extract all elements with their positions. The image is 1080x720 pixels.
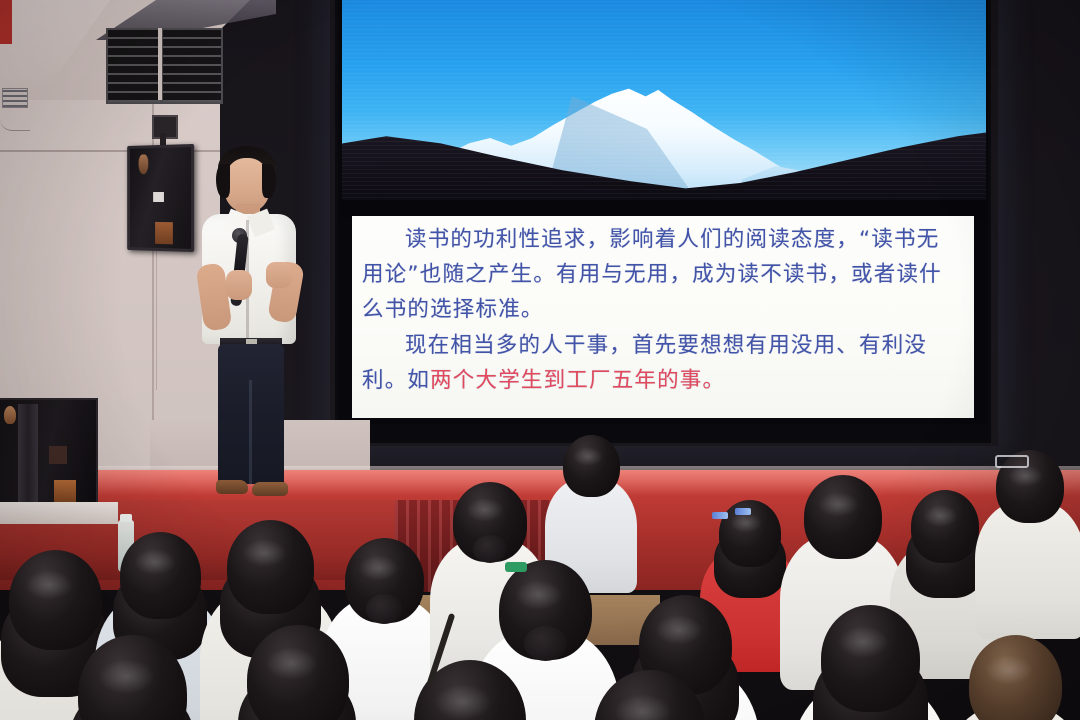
audience-member-hair-sheen xyxy=(466,498,504,522)
audience-member-hair-bun xyxy=(366,594,402,624)
ac-grille-icon xyxy=(106,28,162,104)
slide-photo xyxy=(342,0,986,202)
audience-member-hair-sheen xyxy=(515,580,563,610)
ac-grille-divider xyxy=(158,28,162,100)
pa-speaker xyxy=(127,144,194,252)
audience-member-hair-sheen xyxy=(134,549,176,575)
projection-screen: 读书的功利性追求，影响着人们的阅读态度，“读书无用论”也随之产生。有用与无用，成… xyxy=(338,0,988,440)
audience-member-hair-sheen xyxy=(98,659,155,694)
audience-member-hair-sheen xyxy=(242,539,287,567)
presenter-hand-gesture xyxy=(266,262,292,288)
audience-member-head xyxy=(120,532,201,619)
audience-member-head xyxy=(227,520,314,614)
audience-member-hair-sheen xyxy=(985,655,1033,685)
audience-member-hair-sheen xyxy=(358,555,399,581)
slide-highlight-text: 两个大学生到工厂五年的事。 xyxy=(430,368,725,393)
presenter-hair-right xyxy=(262,164,276,198)
audience-clip-icon xyxy=(712,512,728,519)
ac-grille-icon xyxy=(161,28,223,104)
hanging-wire xyxy=(0,100,30,131)
slide-paragraph-2: 现在相当多的人干事，首先要想想有用没用、有利没利。如两个大学生到工厂五年的事。 xyxy=(362,328,962,398)
audience-member-hair-sheen xyxy=(573,447,603,466)
audience-member-head xyxy=(563,435,620,497)
audience-clip-icon xyxy=(735,508,751,515)
audience-member-hair-sheen xyxy=(818,492,859,517)
audience-member-head xyxy=(804,475,882,559)
audience-member-hair-sheen xyxy=(25,570,73,600)
pa-speaker-reflection-top xyxy=(139,154,149,174)
audience-lanyard-icon xyxy=(505,562,527,572)
audience-member-hair-bun xyxy=(524,626,567,661)
audience-member-hair-sheen xyxy=(838,626,889,658)
audience-member-hair-sheen xyxy=(1008,465,1043,487)
slide-paragraph-1: 读书的功利性追求，影响着人们的阅读态度，“读书无用论”也随之产生。有用与无用，成… xyxy=(362,222,962,327)
audience-member-head xyxy=(9,550,102,650)
presenter-hand-holding-mic xyxy=(226,270,252,300)
audience xyxy=(0,420,1080,720)
audience-member-hair-sheen xyxy=(655,615,703,645)
red-corner-marker xyxy=(0,0,12,44)
audience-member-hair-sheen xyxy=(923,505,958,527)
audience-glasses-icon xyxy=(995,455,1029,468)
audience-member-hair-bun xyxy=(473,535,507,563)
audience-member-hair-sheen xyxy=(265,647,318,680)
presenter-hair-left xyxy=(216,164,230,198)
audience-member-hair-sheen xyxy=(730,513,762,533)
audience-member-hair-sheen xyxy=(434,684,492,720)
slide-text-board: 读书的功利性追求，影响着人们的阅读态度，“读书无用论”也随之产生。有用与无用，成… xyxy=(352,216,974,418)
pa-speaker-reflection-bottom xyxy=(155,222,173,244)
lecture-hall-scene: 读书的功利性追求，影响着人们的阅读态度，“读书无用论”也随之产生。有用与无用，成… xyxy=(0,0,1080,720)
audience-member-head xyxy=(821,605,920,712)
pa-speaker-badge xyxy=(153,192,164,202)
